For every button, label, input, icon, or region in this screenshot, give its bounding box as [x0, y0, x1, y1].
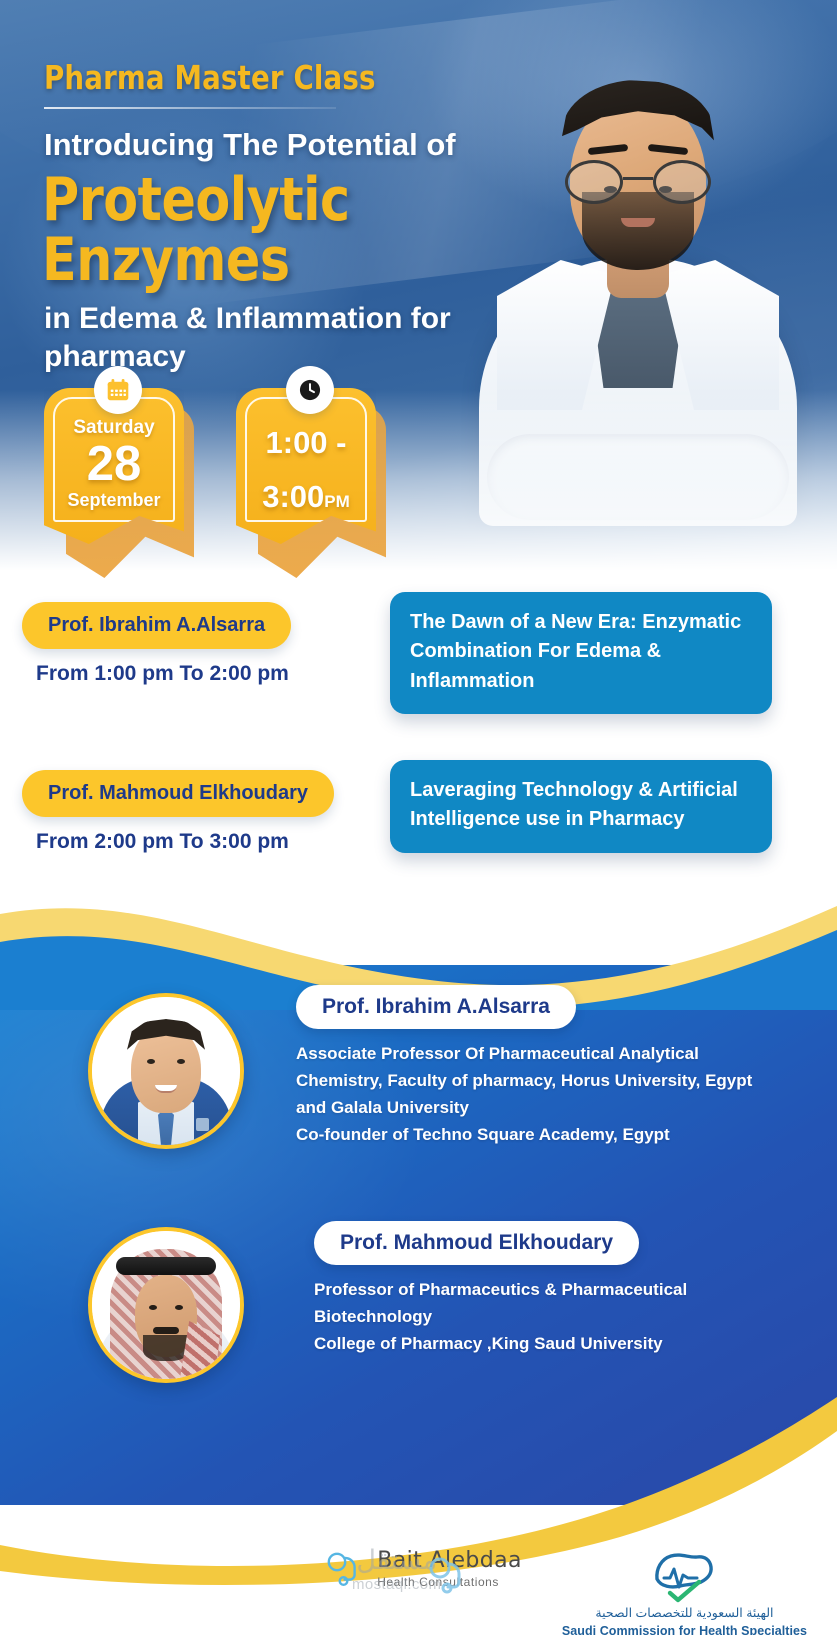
title-headline: Proteolytic Enzymes	[42, 170, 486, 290]
session-topic-card[interactable]: Laveraging Technology & Artificial Intel…	[390, 760, 772, 853]
speaker-avatar	[88, 1227, 244, 1383]
clock-icon	[286, 366, 334, 414]
header-text-block: Pharma Master Class Introducing The Pote…	[44, 58, 514, 376]
session-row: Prof. Mahmoud Elkhoudary From 2:00 pm To…	[0, 756, 837, 924]
session-row: Prof. Ibrahim A.Alsarra From 1:00 pm To …	[0, 588, 837, 756]
speaker-info: Prof. Mahmoud Elkhoudary Professor of Ph…	[296, 1221, 766, 1358]
date-month: September	[52, 491, 176, 511]
speaker-row: Prof. Mahmoud Elkhoudary Professor of Ph…	[0, 1221, 837, 1457]
date-day-of-week: Saturday	[52, 418, 176, 439]
scfhs-name-arabic: الهيئة السعودية للتخصصات الصحية	[595, 1606, 773, 1621]
speaker-name-pill: Prof. Ibrahim A.Alsarra	[296, 985, 576, 1029]
mostaql-watermark-icon	[424, 1553, 476, 1597]
speaker-bio: Associate Professor Of Pharmaceutical An…	[296, 1041, 766, 1148]
speaker-row: Prof. Ibrahim A.Alsarra Associate Profes…	[0, 985, 837, 1221]
time-meridiem: PM	[324, 492, 350, 511]
session-speaker-pill[interactable]: Prof. Mahmoud Elkhoudary	[22, 770, 334, 817]
scfhs-name-english: Saudi Commission for Health Specialties	[562, 1624, 807, 1635]
event-poster: Pharma Master Class Introducing The Pote…	[0, 0, 837, 1635]
session-list: Prof. Ibrahim A.Alsarra From 1:00 pm To …	[0, 588, 837, 924]
footer-logos: Bait Alebdaa Health Consultations الهيئة…	[0, 1515, 837, 1635]
session-time: From 2:00 pm To 3:00 pm	[36, 830, 289, 854]
eyeglasses-icon	[563, 160, 713, 204]
speaker-name-pill: Prof. Mahmoud Elkhoudary	[314, 1221, 639, 1265]
session-time: From 1:00 pm To 2:00 pm	[36, 662, 289, 686]
event-badges: Saturday 28 September 1:00 - 3:00PM	[44, 388, 384, 544]
speaker-avatar	[88, 993, 244, 1149]
title-line-2: in Edema & Inflammation for pharmacy	[44, 300, 514, 377]
date-badge: Saturday 28 September	[44, 388, 192, 544]
speaker-bio: Professor of Pharmaceutics & Pharmaceuti…	[314, 1277, 766, 1358]
scfhs-logo: الهيئة السعودية للتخصصات الصحية Saudi Co…	[562, 1549, 807, 1635]
session-topic-card[interactable]: The Dawn of a New Era: Enzymatic Combina…	[390, 592, 772, 714]
portrait-mahmoud-elkhoudary	[92, 1231, 240, 1379]
kicker-title: Pharma Master Class	[44, 58, 481, 97]
title-line-1: Introducing The Potential of	[44, 127, 514, 164]
kicker-divider	[44, 107, 336, 109]
scfhs-mark-icon	[647, 1549, 721, 1603]
time-end-row: 3:00PM	[244, 480, 368, 514]
portrait-ibrahim-alsarra	[92, 997, 240, 1145]
date-day-number: 28	[52, 440, 176, 490]
speakers-section: Prof. Ibrahim A.Alsarra Associate Profes…	[0, 985, 837, 1457]
session-speaker-pill[interactable]: Prof. Ibrahim A.Alsarra	[22, 602, 291, 649]
speaker-info: Prof. Ibrahim A.Alsarra Associate Profes…	[296, 985, 766, 1148]
calendar-icon	[94, 366, 142, 414]
bait-alebdaa-mark-icon	[324, 1549, 368, 1589]
time-badge: 1:00 - 3:00PM	[236, 388, 384, 544]
time-start: 1:00 -	[244, 426, 368, 460]
time-end: 3:00	[262, 479, 324, 514]
